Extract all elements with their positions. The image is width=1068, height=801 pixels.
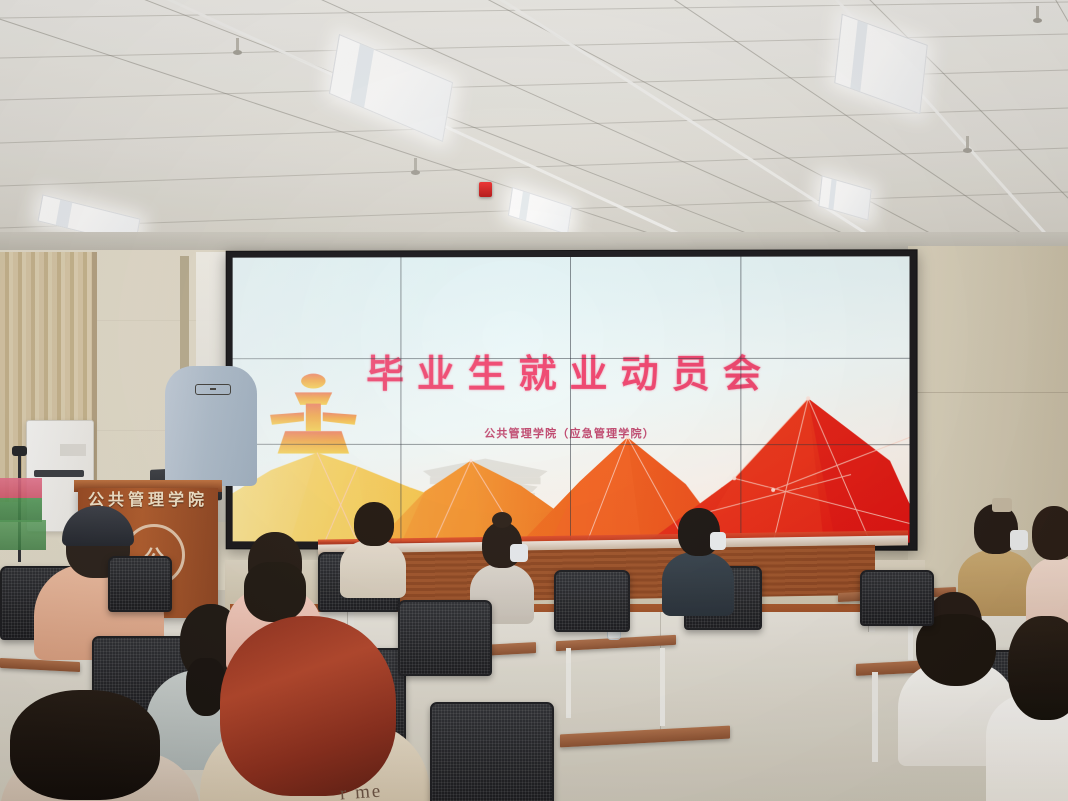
presentation-slide: 毕业生就业动员会 公共管理学院（应急管理学院） — [233, 256, 910, 542]
desk-leg — [566, 648, 571, 718]
audience-person — [662, 506, 734, 610]
hair-long-red — [220, 616, 396, 796]
audience-head — [1032, 506, 1068, 560]
audience-person: r me — [200, 610, 430, 801]
audience-person — [0, 690, 200, 801]
cap-icon — [62, 506, 134, 546]
video-wall-screen[interactable]: 毕业生就业动员会 公共管理学院（应急管理学院） — [226, 249, 918, 550]
microphone-icon — [12, 446, 27, 456]
wall-seam — [908, 392, 1068, 393]
chair — [108, 556, 172, 612]
chair — [430, 702, 554, 801]
sprinkler-icon — [236, 38, 239, 52]
sprinkler-icon — [1036, 6, 1039, 20]
chair — [554, 570, 630, 632]
chair — [398, 600, 492, 676]
desk-leg — [872, 672, 878, 762]
sprinkler-icon — [414, 158, 417, 172]
ceiling — [0, 0, 1068, 250]
chair — [860, 570, 934, 626]
desk-leg — [660, 648, 665, 726]
face-mask-icon — [510, 544, 528, 562]
lecture-room-photo: 毕业生就业动员会 公共管理学院（应急管理学院） 公共 — [0, 0, 1068, 801]
audience-body — [340, 540, 406, 598]
audience-body — [662, 552, 734, 616]
panel-seam-vertical — [740, 257, 741, 543]
ac-display-panel — [60, 444, 86, 456]
audience-person — [986, 620, 1068, 801]
hair-clip-icon — [992, 498, 1012, 512]
hair-bun — [492, 512, 512, 528]
audience-person — [340, 498, 406, 588]
ac-vent — [34, 470, 84, 477]
hair-long-black — [10, 690, 160, 800]
face-mask-icon — [710, 532, 726, 550]
audience-person — [1026, 506, 1068, 626]
jacket-text: r me — [339, 781, 383, 801]
glasses-icon — [195, 384, 231, 395]
sprinkler-icon — [966, 136, 969, 150]
hair-long — [1008, 616, 1068, 720]
fire-alarm-icon — [479, 182, 492, 197]
audience-head — [354, 502, 394, 546]
panel-seam-vertical — [570, 257, 571, 542]
